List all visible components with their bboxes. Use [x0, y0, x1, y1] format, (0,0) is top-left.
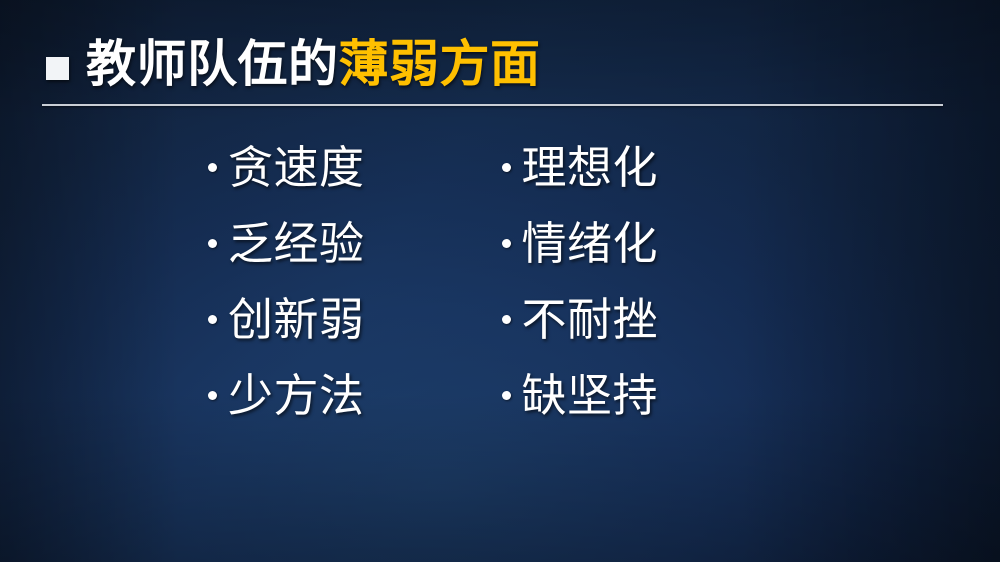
title-plain-text: 教师队伍的 [86, 36, 339, 92]
right-column: 理想化 情绪化 不耐挫 缺坚持 [502, 142, 659, 420]
list-item: 创新弱 [208, 294, 365, 344]
list-item-label: 乏经验 [228, 221, 365, 266]
list-item: 缺坚持 [502, 370, 659, 420]
round-bullet-icon [208, 239, 217, 248]
list-item: 理想化 [502, 142, 659, 192]
list-item: 情绪化 [502, 218, 659, 268]
round-bullet-icon [502, 163, 511, 172]
slide-title: 教师队伍的薄弱方面 [46, 36, 541, 92]
list-item-label: 创新弱 [228, 297, 365, 342]
list-item: 少方法 [208, 370, 365, 420]
round-bullet-icon [208, 315, 217, 324]
square-bullet-icon [46, 57, 69, 80]
round-bullet-icon [502, 391, 511, 400]
list-item-label: 贪速度 [228, 145, 365, 190]
list-item-label: 理想化 [522, 145, 659, 190]
round-bullet-icon [502, 315, 511, 324]
left-column: 贪速度 乏经验 创新弱 少方法 [208, 142, 365, 420]
title-divider [42, 104, 943, 106]
round-bullet-icon [208, 163, 217, 172]
list-item-label: 不耐挫 [522, 297, 659, 342]
list-item: 不耐挫 [502, 294, 659, 344]
title-text-group: 教师队伍的薄弱方面 [86, 36, 541, 92]
title-accent-text: 薄弱方面 [339, 36, 541, 92]
list-item: 贪速度 [208, 142, 365, 192]
round-bullet-icon [502, 239, 511, 248]
round-bullet-icon [208, 391, 217, 400]
list-item-label: 缺坚持 [522, 373, 659, 418]
list-item-label: 情绪化 [522, 221, 659, 266]
list-item-label: 少方法 [228, 373, 365, 418]
list-item: 乏经验 [208, 218, 365, 268]
presentation-slide: 教师队伍的薄弱方面 贪速度 乏经验 创新弱 [0, 0, 1000, 562]
bullet-columns: 贪速度 乏经验 创新弱 少方法 理想化 [208, 142, 658, 420]
